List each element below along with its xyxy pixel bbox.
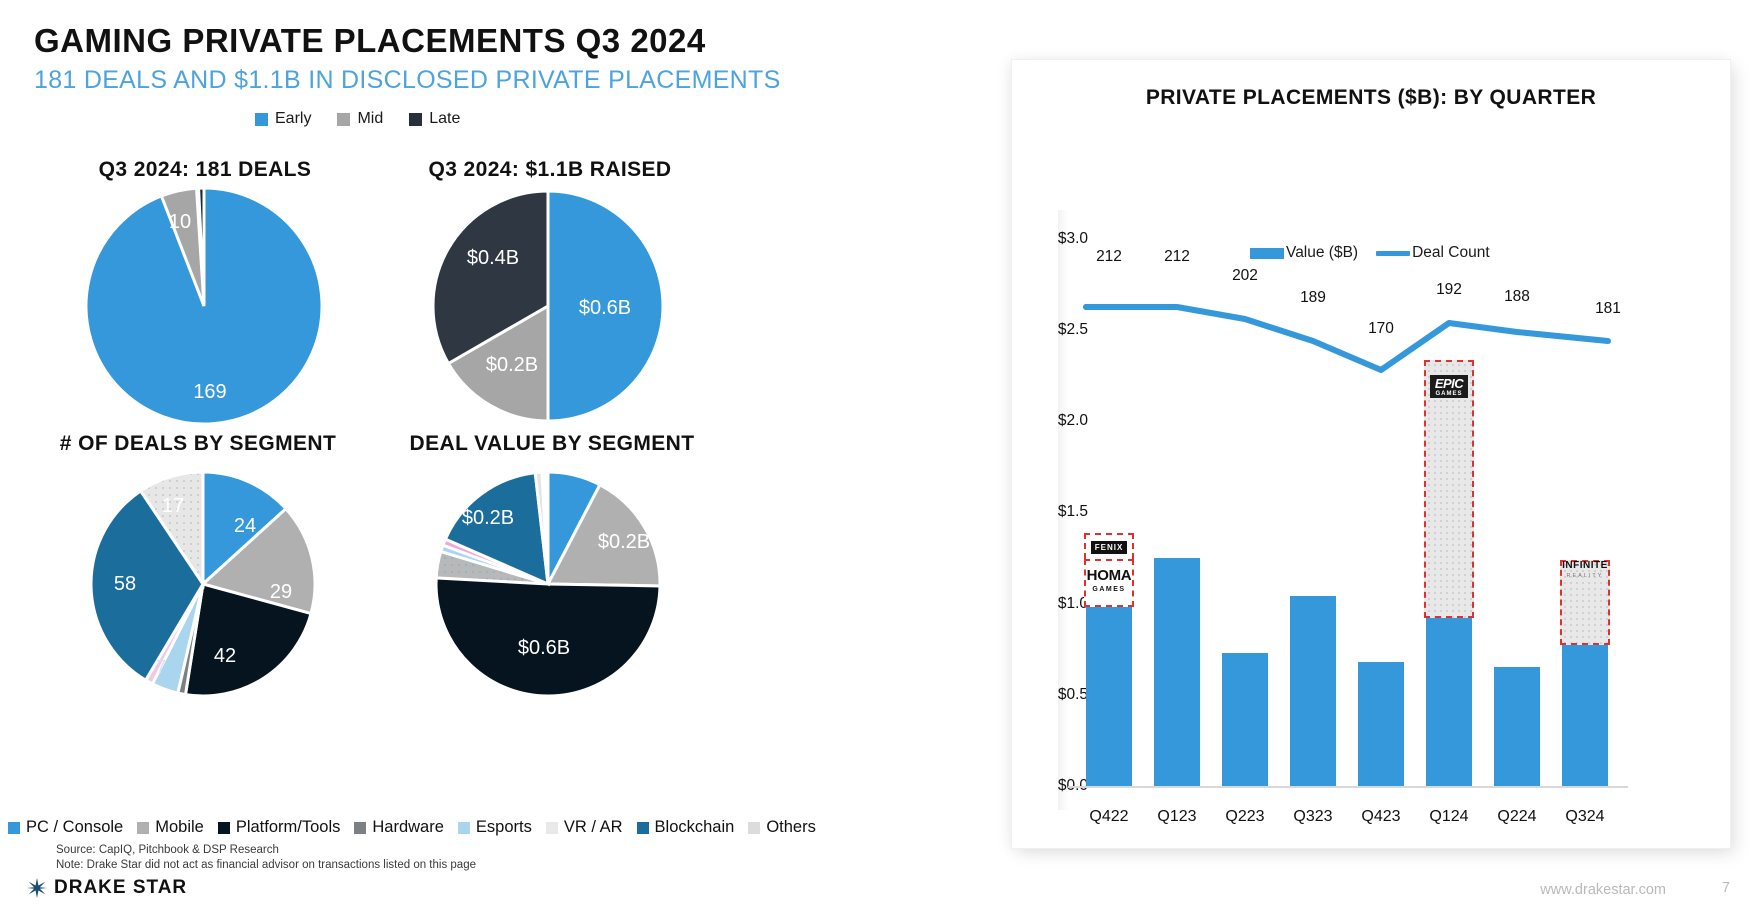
legend-label-mid: Mid	[357, 110, 383, 128]
x-axis-line	[1068, 786, 1628, 788]
slide: GAMING PRIVATE PLACEMENTS Q3 2024 181 DE…	[0, 0, 1758, 910]
legend-swatch-platform-tools	[218, 822, 230, 834]
epic-games-logo-icon: EPICGAMES	[1430, 375, 1468, 398]
legend-swatch-others	[748, 822, 760, 834]
quarterly-chart-legend: Value ($B) Deal Count	[1250, 244, 1490, 262]
legend-swatch-mobile	[137, 822, 149, 834]
disclaimer-line: Note: Drake Star did not act as financia…	[56, 858, 476, 873]
source-line: Source: CapIQ, Pitchbook & DSP Research	[56, 843, 476, 858]
pie2-title: Q3 2024: $1.1B RAISED	[400, 158, 700, 182]
pie2-value-late: $0.4B	[467, 247, 519, 269]
pie-chart-value-stage: $0.6B $0.2B $0.4B	[398, 186, 698, 426]
legend-item-platform-tools: Platform/Tools	[218, 818, 341, 837]
pie2-value-early: $0.6B	[579, 297, 631, 319]
brand-logo: DRAKE STAR	[26, 877, 187, 899]
logo-box-fenix-q422: FENIX	[1084, 533, 1134, 559]
legend-label-hardware: Hardware	[372, 818, 444, 837]
bar-q324	[1562, 643, 1608, 786]
legend-item-mobile: Mobile	[137, 818, 204, 837]
site-url: www.drakestar.com	[1540, 882, 1666, 898]
legend-label-blockchain: Blockchain	[655, 818, 735, 837]
legend-item-vr-ar: VR / AR	[546, 818, 623, 837]
pie-chart-value-segment: $0.2B $0.6B $0.2B	[400, 466, 696, 728]
legend-swatch-mid	[337, 113, 350, 126]
legend-label-mobile: Mobile	[155, 818, 204, 837]
legend-label-pc-console: PC / Console	[26, 818, 123, 837]
legend-swatch-late	[409, 113, 422, 126]
legend-item-pc-console: PC / Console	[8, 818, 123, 837]
stage-legend: Early Mid Late	[255, 110, 460, 128]
legend-swatch-blockchain	[637, 822, 649, 834]
page-number: 7	[1722, 880, 1730, 896]
legend-item-esports: Esports	[458, 818, 532, 837]
legend-label-others: Others	[766, 818, 816, 837]
legend-swatch-deal-count	[1376, 251, 1410, 256]
xtick-q324: Q324	[1545, 808, 1625, 826]
legend-swatch-vr-ar	[546, 822, 558, 834]
ytick-1-0: $1.0	[1032, 595, 1088, 613]
logo-box-infinite-reality-q324: INFINITEREALITY	[1542, 550, 1628, 592]
bar-q422	[1086, 607, 1132, 786]
legend-label-platform-tools: Platform/Tools	[236, 818, 341, 837]
deal-count-label-q323: 189	[1283, 289, 1343, 307]
deal-count-label-q224: 188	[1487, 288, 1547, 306]
brand-name: DRAKE STAR	[54, 877, 187, 899]
pie-chart-deals-stage: 169 10	[58, 186, 350, 426]
legend-item-others: Others	[748, 818, 816, 837]
quarterly-chart-title: PRIVATE PLACEMENTS ($B): BY QUARTER	[1012, 86, 1730, 110]
legend-label-late: Late	[429, 110, 460, 128]
legend-label-value: Value ($B)	[1286, 244, 1358, 262]
pie3-value-esports: 7	[156, 657, 166, 677]
fenix-logo-icon: FENIX	[1091, 541, 1128, 554]
legend-label-deal-count: Deal Count	[1412, 244, 1490, 262]
legend-label-esports: Esports	[476, 818, 532, 837]
pie3-title: # OF DEALS BY SEGMENT	[40, 432, 356, 456]
pie3-value-platform: 42	[214, 645, 236, 667]
legend-swatch-pc-console	[8, 822, 20, 834]
legend-item-blockchain: Blockchain	[637, 818, 735, 837]
pie1-value-mid: 10	[169, 211, 191, 233]
bar-q223	[1222, 653, 1268, 786]
quarterly-chart-card: PRIVATE PLACEMENTS ($B): BY QUARTER Valu…	[1012, 60, 1730, 848]
pie3-value-others: 17	[162, 495, 184, 517]
legend-item-hardware: Hardware	[354, 818, 444, 837]
bar-q323	[1290, 596, 1336, 786]
legend-item-mid: Mid	[337, 110, 383, 128]
ytick-0-5: $0.5	[1032, 686, 1088, 704]
pie4-value-platform: $0.6B	[518, 637, 570, 659]
pie3-value-mobile: 29	[270, 581, 292, 603]
ytick-2-5: $2.5	[1032, 321, 1088, 339]
legend-item-late: Late	[409, 110, 460, 128]
logo-box-homa-q422: HOMAGAMES	[1084, 559, 1134, 607]
bar-q423	[1358, 662, 1404, 786]
deal-count-label-q422: 212	[1079, 248, 1139, 266]
pie1-title: Q3 2024: 181 DEALS	[60, 158, 350, 182]
legend-swatch-value	[1250, 248, 1284, 259]
ytick-2-0: $2.0	[1032, 412, 1088, 430]
deal-count-label-q423: 170	[1351, 320, 1411, 338]
page-title: GAMING PRIVATE PLACEMENTS Q3 2024	[34, 22, 706, 60]
deal-count-label-q124: 192	[1419, 281, 1479, 299]
deal-count-label-q324: 181	[1578, 300, 1638, 318]
pie3-value-blockchain: 58	[114, 573, 136, 595]
legend-swatch-hardware	[354, 822, 366, 834]
source-notes: Source: CapIQ, Pitchbook & DSP Research …	[56, 843, 476, 873]
page-subtitle: 181 DEALS AND $1.1B IN DISCLOSED PRIVATE…	[34, 66, 781, 95]
legend-label-vr-ar: VR / AR	[564, 818, 623, 837]
pie2-value-mid: $0.2B	[486, 354, 538, 376]
pie3-value-pc: 24	[234, 515, 256, 537]
bar-q224	[1494, 667, 1540, 786]
pie4-value-blockchain: $0.2B	[462, 507, 514, 529]
pie4-value-mobile: $0.2B	[598, 531, 650, 553]
logo-box-epic-q124: EPICGAMES	[1424, 360, 1474, 412]
ytick-3-0: $3.0	[1032, 230, 1088, 248]
homa-games-logo-icon: HOMAGAMES	[1087, 569, 1132, 597]
star-icon	[26, 877, 48, 899]
legend-swatch-early	[255, 113, 268, 126]
pie-chart-deals-segment: 24 29 42 7 58 17	[58, 466, 348, 728]
segment-legend: PC / Console Mobile Platform/Tools Hardw…	[8, 818, 816, 837]
infinite-reality-logo-icon: INFINITEREALITY	[1562, 561, 1608, 581]
pie4-title: DEAL VALUE BY SEGMENT	[392, 432, 712, 456]
ytick-1-5: $1.5	[1032, 503, 1088, 521]
legend-label-early: Early	[275, 110, 311, 128]
bar-q124	[1426, 616, 1472, 786]
legend-item-value: Value ($B)	[1250, 244, 1358, 262]
deal-count-label-q123: 212	[1147, 248, 1207, 266]
bar-q123	[1154, 558, 1200, 786]
legend-item-early: Early	[255, 110, 311, 128]
legend-item-deal-count: Deal Count	[1376, 244, 1490, 262]
pie1-value-early: 169	[193, 381, 226, 403]
legend-swatch-esports	[458, 822, 470, 834]
deal-count-label-q223: 202	[1215, 267, 1275, 285]
